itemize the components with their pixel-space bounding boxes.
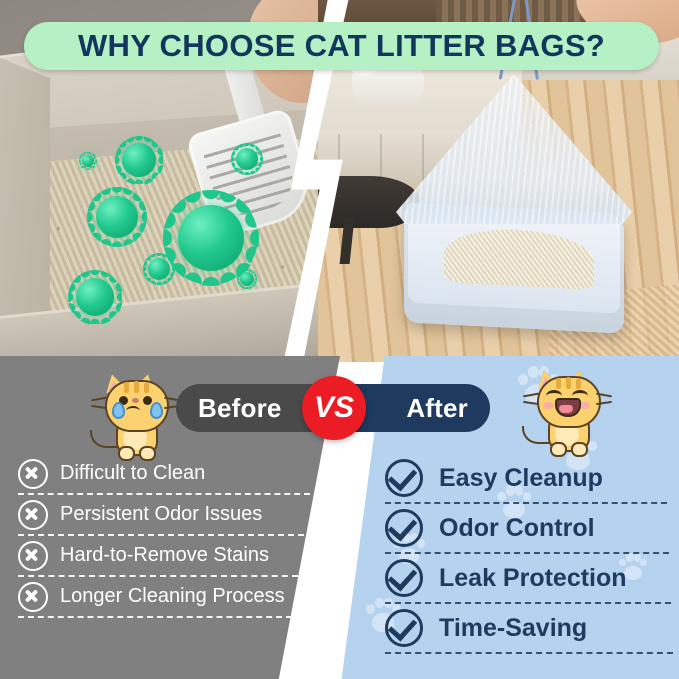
list-separator [385, 602, 671, 604]
germ-icon [122, 143, 156, 177]
germ-icon [240, 272, 254, 286]
list-separator [385, 502, 667, 504]
before-label: Before [198, 393, 282, 424]
x-circle-icon [18, 541, 48, 571]
list-item-label: Odor Control [439, 514, 595, 543]
vs-label: VS [314, 391, 354, 425]
germ-icon [148, 258, 170, 280]
list-item: Leak Protection [385, 554, 669, 602]
vs-circle: VS [302, 376, 366, 440]
list-separator [385, 552, 669, 554]
x-circle-icon [18, 459, 48, 489]
title-banner: WHY CHOOSE CAT LITTER BAGS? [24, 22, 659, 70]
x-circle-icon [18, 500, 48, 530]
before-feature-list: Difficult to Clean Persistent Odor Issue… [18, 454, 318, 618]
check-circle-icon [385, 459, 423, 497]
page-title: WHY CHOOSE CAT LITTER BAGS? [78, 28, 605, 64]
list-item: Difficult to Clean [18, 454, 318, 493]
list-item: Longer Cleaning Process [18, 577, 318, 616]
check-circle-icon [385, 609, 423, 647]
list-item-label: Longer Cleaning Process [60, 585, 285, 608]
germ-icon [178, 205, 244, 271]
germ-icon [236, 148, 258, 170]
list-item-label: Persistent Odor Issues [60, 503, 262, 526]
list-item-label: Hard-to-Remove Stains [60, 544, 269, 567]
list-item: Easy Cleanup [385, 454, 669, 502]
list-item-label: Leak Protection [439, 564, 627, 593]
germ-icon [82, 155, 94, 167]
list-item: Time-Saving [385, 604, 669, 652]
list-item-label: Difficult to Clean [60, 462, 205, 485]
x-circle-icon [18, 582, 48, 612]
list-item-label: Time-Saving [439, 614, 587, 643]
after-feature-list: Easy Cleanup Odor Control Leak Protectio… [385, 454, 669, 654]
list-separator [18, 616, 292, 618]
check-circle-icon [385, 559, 423, 597]
list-separator [18, 534, 304, 536]
list-item: Hard-to-Remove Stains [18, 536, 318, 575]
before-after-comparison: Before After VS Difficult to Clean Persi… [0, 356, 679, 679]
check-circle-icon [385, 509, 423, 547]
list-item-label: Easy Cleanup [439, 464, 603, 493]
list-separator [18, 493, 310, 495]
product-comparison-infographic: WHY CHOOSE CAT LITTER BAGS? [0, 0, 679, 679]
list-item: Odor Control [385, 504, 669, 552]
list-separator [18, 575, 298, 577]
germ-icon [96, 196, 138, 238]
after-label: After [406, 393, 468, 424]
list-separator [385, 652, 673, 654]
germ-icon [76, 278, 114, 316]
list-item: Persistent Odor Issues [18, 495, 318, 534]
before-vs-after-badge: Before After VS [0, 378, 679, 440]
